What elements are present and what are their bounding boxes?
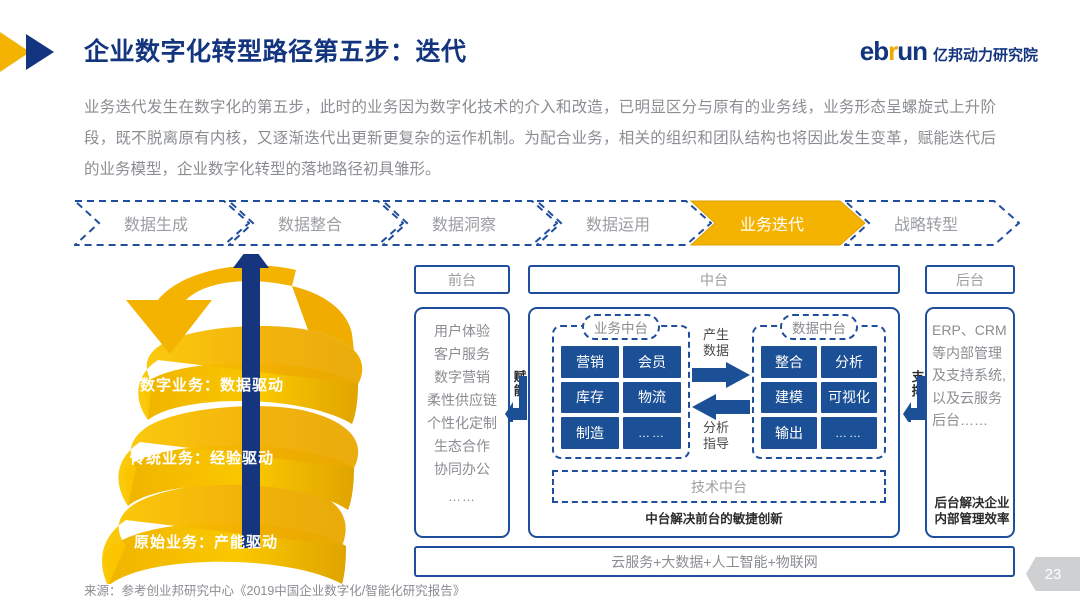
spiral-label-original: 原始业务：产能驱动: [134, 531, 278, 552]
process-step-2[interactable]: 数据整合: [228, 200, 404, 246]
business-platform-cell[interactable]: ……: [623, 417, 681, 449]
source-note: 来源：参考创业邦研究中心《2019中国企业数字化/智能化研究报告》: [84, 580, 465, 599]
header-back-stage: 后台: [925, 265, 1015, 294]
business-platform-cells: 营销会员库存物流制造……: [561, 346, 681, 449]
process-step-4[interactable]: 数据运用: [536, 200, 712, 246]
front-stage-item: 协同办公: [434, 459, 490, 480]
back-stage-caption: 后台解决企业内部管理效率: [931, 495, 1013, 527]
logo-wordmark: ebrun: [860, 38, 927, 64]
process-steps: 数据生成数据整合数据洞察数据运用业务迭代战略转型: [74, 200, 1014, 246]
spiral-label-digital: 数字业务：数据驱动: [140, 374, 284, 395]
intro-paragraph: 业务迭代发生在数字化的第五步，此时的业务因为数字化技术的介入和改造，已明显区分与…: [84, 92, 996, 185]
process-step-label: 数据生成: [124, 211, 200, 235]
back-stage-text: ERP、CRM等内部管理及支持系统,以及云服务后台……: [932, 319, 1012, 432]
arrow-produce-data-label: 产生 数据: [695, 327, 737, 359]
front-stage-item: 柔性供应链: [427, 390, 497, 411]
business-platform-cell[interactable]: 物流: [623, 382, 681, 414]
process-step-6[interactable]: 战略转型: [844, 200, 1020, 246]
arrow-left-enable-icon: [505, 376, 527, 427]
front-stage-item: 生态合作: [434, 436, 490, 457]
data-platform-title: 数据中台: [780, 314, 858, 340]
front-stage-item: 用户体验: [434, 321, 490, 342]
data-platform-cell[interactable]: 输出: [761, 417, 817, 449]
panel-back-stage: ERP、CRM等内部管理及支持系统,以及云服务后台…… 后台解决企业内部管理效率: [925, 307, 1015, 538]
header-chevron-arrows-icon: [0, 28, 80, 76]
tech-platform-box: 技术中台: [552, 470, 886, 503]
page-title: 企业数字化转型路径第五步：迭代: [84, 32, 467, 68]
arrow-analysis-guide-label: 分析 指导: [695, 420, 737, 452]
business-platform-group: 业务中台 营销会员库存物流制造……: [552, 325, 690, 459]
business-platform-cell[interactable]: 库存: [561, 382, 619, 414]
logo-text-post: un: [897, 36, 927, 66]
header-middle-stage: 中台: [528, 265, 900, 294]
data-platform-cell[interactable]: 可视化: [821, 382, 877, 414]
front-stage-ellipsis: ……: [448, 486, 476, 507]
logo-text-pre: eb: [860, 36, 888, 66]
process-step-5[interactable]: 业务迭代: [690, 200, 866, 246]
front-stage-item: 客户服务: [434, 344, 490, 365]
panel-front-stage: 用户体验客户服务数字营销柔性供应链个性化定制生态合作协同办公……: [414, 307, 510, 538]
business-platform-cell[interactable]: 营销: [561, 346, 619, 378]
page-number-badge: 23: [1026, 557, 1080, 591]
data-platform-cell[interactable]: ……: [821, 417, 877, 449]
process-step-label: 数据洞察: [432, 211, 508, 235]
data-platform-cell[interactable]: 整合: [761, 346, 817, 378]
business-platform-title: 业务中台: [582, 314, 660, 340]
spiral-growth-diagram: 数字业务：数据驱动 传统业务：经验驱动 原始业务：产能驱动: [96, 254, 416, 584]
arrow-right-produce-data-icon: [692, 362, 750, 393]
process-step-1[interactable]: 数据生成: [74, 200, 250, 246]
business-platform-cell[interactable]: 会员: [623, 346, 681, 378]
front-stage-item: 数字营销: [434, 367, 490, 388]
process-step-label: 业务迭代: [740, 211, 816, 235]
logo-text-r: r: [888, 36, 897, 66]
slide-root: 企业数字化转型路径第五步：迭代 ebrun 亿邦动力研究院 业务迭代发生在数字化…: [0, 0, 1080, 608]
front-stage-item-list: 用户体验客户服务数字营销柔性供应链个性化定制生态合作协同办公……: [416, 321, 508, 507]
front-stage-item: 个性化定制: [427, 413, 497, 434]
data-platform-cells: 整合分析建模可视化输出……: [761, 346, 877, 449]
ebrun-logo: ebrun 亿邦动力研究院: [860, 38, 1038, 64]
arrow-left-support-icon: [903, 376, 925, 427]
arrow-guide-line2: 指导: [695, 436, 737, 452]
process-step-label: 战略转型: [894, 211, 970, 235]
process-step-label: 数据运用: [586, 211, 662, 235]
arrow-produce-line2: 数据: [695, 343, 737, 359]
data-platform-cell[interactable]: 分析: [821, 346, 877, 378]
process-step-label: 数据整合: [278, 211, 354, 235]
data-platform-group: 数据中台 整合分析建模可视化输出……: [752, 325, 886, 459]
process-step-3[interactable]: 数据洞察: [382, 200, 558, 246]
logo-chinese-name: 亿邦动力研究院: [933, 48, 1038, 64]
middle-stage-caption: 中台解决前台的敏捷创新: [528, 508, 900, 527]
arrow-produce-line1: 产生: [695, 327, 737, 343]
arrow-guide-line1: 分析: [695, 420, 737, 436]
data-platform-cell[interactable]: 建模: [761, 382, 817, 414]
spiral-label-traditional: 传统业务：经验驱动: [130, 447, 274, 468]
business-platform-cell[interactable]: 制造: [561, 417, 619, 449]
foundation-bar: 云服务+大数据+人工智能+物联网: [414, 546, 1015, 577]
header-front-stage: 前台: [414, 265, 510, 294]
